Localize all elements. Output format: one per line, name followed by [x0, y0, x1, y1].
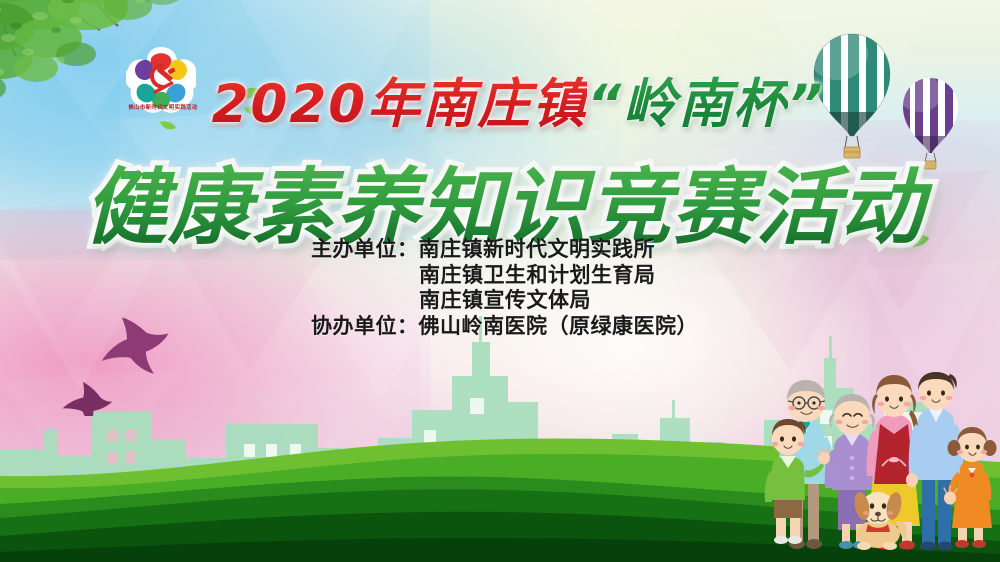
balloon-purple: [898, 74, 962, 169]
bird-medium-left: [61, 380, 114, 416]
family-girl: [944, 427, 997, 548]
emblem-caption: 佛山市新时代文明实践活动: [125, 100, 201, 113]
balloon-teal: [808, 28, 895, 158]
flying-birds: [30, 296, 260, 416]
poster-canvas: 佛山市新时代文明实践活动 2020年南庄镇“岭南杯” 2020年南庄镇“岭南杯”…: [0, 0, 1000, 562]
family-illustration: .sk{fill:#fbd9bd}.sk2{fill:#f9d2b4}.hair…: [764, 372, 1000, 562]
bird-large: [96, 312, 174, 381]
hot-air-balloons: [800, 22, 990, 172]
